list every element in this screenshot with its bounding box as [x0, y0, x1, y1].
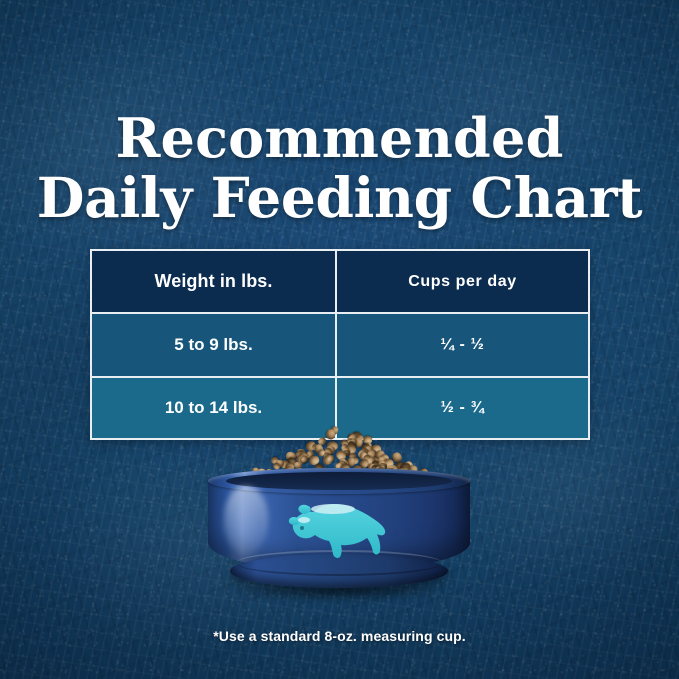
- cell-weight-row-1: 5 to 9 lbs.: [92, 314, 335, 376]
- cell-cups-row-1-value: ¼ - ½: [441, 336, 485, 354]
- page-title: Recommended Daily Feeding Chart: [0, 108, 679, 228]
- title-line-1: Recommended: [115, 106, 563, 170]
- footnote-measuring-cup: *Use a standard 8-oz. measuring cup.: [0, 628, 679, 644]
- column-header-cups-label: Cups per day: [408, 273, 517, 291]
- title-line-2: Daily Feeding Chart: [0, 168, 679, 228]
- column-header-weight-label: Weight in lbs.: [154, 271, 272, 292]
- table-row: 5 to 9 lbs. ¼ - ½: [92, 312, 588, 376]
- column-header-cups: Cups per day: [335, 251, 588, 312]
- table-header-row: Weight in lbs. Cups per day: [92, 251, 588, 312]
- product-scene: [0, 420, 679, 620]
- dog-food-bowl: [208, 468, 470, 590]
- bowl-highlight: [224, 486, 268, 554]
- cell-cups-row-2-value: ½ - ¾: [441, 399, 485, 417]
- column-header-weight: Weight in lbs.: [92, 251, 335, 312]
- feeding-chart-graphic: Recommended Daily Feeding Chart Weight i…: [0, 0, 679, 679]
- feeding-table: Weight in lbs. Cups per day 5 to 9 lbs. …: [90, 249, 590, 440]
- cell-weight-row-2-value: 10 to 14 lbs.: [165, 398, 262, 418]
- buffalo-logo: [286, 500, 392, 558]
- cell-weight-row-1-value: 5 to 9 lbs.: [174, 335, 252, 355]
- cell-cups-row-1: ¼ - ½: [335, 314, 588, 376]
- bowl-interior: [226, 472, 452, 490]
